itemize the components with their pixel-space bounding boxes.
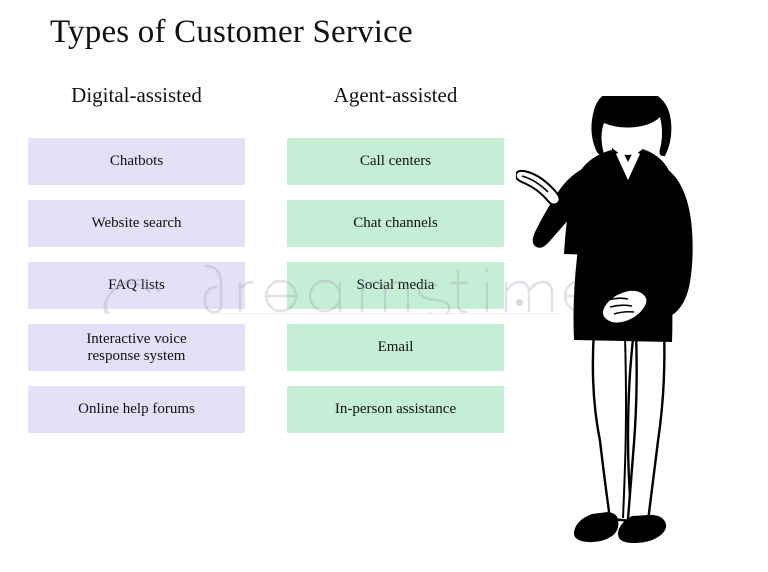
item-label: In-person assistance — [335, 401, 456, 418]
page-title: Types of Customer Service — [50, 12, 520, 52]
item-box-interactive-voice-response-system[interactable]: Interactive voice response system — [28, 324, 245, 371]
item-box-in-person-assistance[interactable]: In-person assistance — [287, 386, 504, 433]
item-box-email[interactable]: Email — [287, 324, 504, 371]
item-label-line2: response system — [88, 348, 186, 364]
item-label: Email — [378, 339, 414, 356]
item-label: Interactive voice response system — [86, 331, 186, 365]
item-box-chatbots[interactable]: Chatbots — [28, 138, 245, 185]
item-box-social-media[interactable]: Social media — [287, 262, 504, 309]
item-label: FAQ lists — [108, 277, 165, 294]
item-label-line1: Interactive voice — [86, 331, 186, 347]
item-box-website-search[interactable]: Website search — [28, 200, 245, 247]
item-label: Chat channels — [353, 215, 438, 232]
item-label: Social media — [357, 277, 435, 294]
column-header-agent-assisted: Agent-assisted — [287, 82, 504, 108]
item-box-chat-channels[interactable]: Chat channels — [287, 200, 504, 247]
item-box-call-centers[interactable]: Call centers — [287, 138, 504, 185]
item-label: Website search — [92, 215, 182, 232]
item-label: Chatbots — [110, 153, 163, 170]
slide-canvas: Types of Customer Service Digital-assist… — [0, 0, 768, 572]
column-agent-assisted: Call centers Chat channels Social media … — [287, 138, 504, 433]
item-label: Call centers — [360, 153, 431, 170]
column-header-digital-assisted: Digital-assisted — [28, 82, 245, 108]
item-box-faq-lists[interactable]: FAQ lists — [28, 262, 245, 309]
businesswoman-silhouette-icon — [516, 96, 768, 544]
column-digital-assisted: Chatbots Website search FAQ lists Intera… — [28, 138, 245, 433]
item-box-online-help-forums[interactable]: Online help forums — [28, 386, 245, 433]
item-label: Online help forums — [78, 401, 195, 418]
